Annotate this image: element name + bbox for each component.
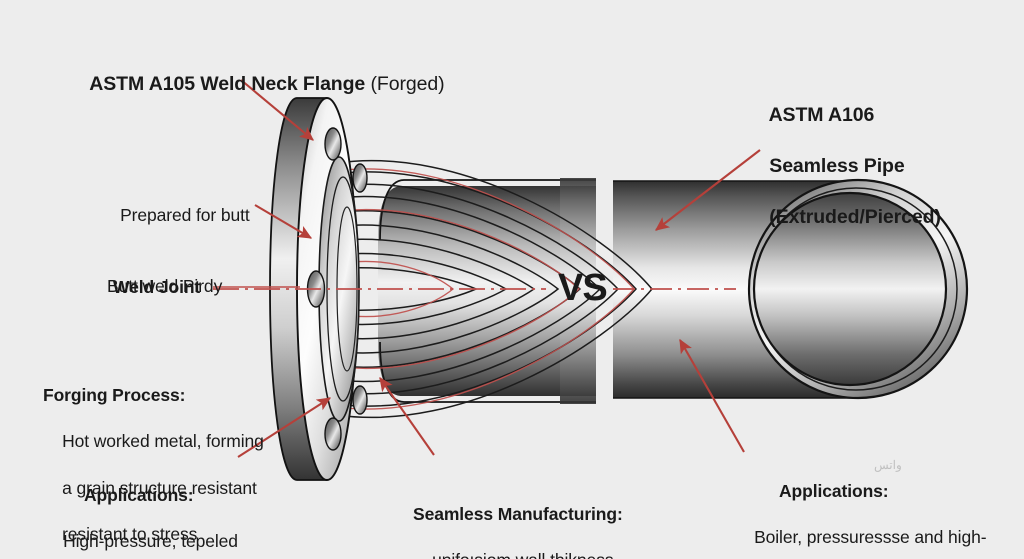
callout-butt-weld: Prepared for butt Butt weld Pirdy xyxy=(101,180,250,345)
bolt-hole xyxy=(353,386,367,414)
block-applications-left: Applications: High-pressure, tepeled tem… xyxy=(44,437,269,559)
vs-label: VS xyxy=(558,266,607,312)
title-right-line1: ASTM A106 xyxy=(769,104,875,126)
watermark: واتس xyxy=(874,458,902,473)
bolt-hole xyxy=(325,128,341,160)
bolt-hole xyxy=(325,418,341,450)
callout-weld-joint: Weld Joint xyxy=(113,277,200,298)
title-left-bold: ASTM A105 Weld Neck Flange xyxy=(89,73,365,95)
block-applications-right-heading: Applications: xyxy=(735,480,986,503)
block-applications-left-line1: High-pressure, tepeled xyxy=(63,531,238,551)
block-seamless-line1: unifoısiom wall thikness, xyxy=(432,550,618,559)
block-seamless-heading: Seamless Manufacturing: xyxy=(413,503,623,526)
title-right: ASTM A106 Seamless Pipe (Extruded/Pierce… xyxy=(748,78,941,255)
block-applications-right: Applications: Boiler, pressuressse and h… xyxy=(735,433,986,559)
title-right-line3: (Extruded/Pierced) xyxy=(769,206,941,228)
title-left: ASTM A105 Weld Neck Flange (Forged) xyxy=(68,50,444,120)
block-seamless-manufacturing: Seamless Manufacturing: unifoısiom wall … xyxy=(413,456,623,559)
diagram-canvas: ASTM A105 Weld Neck Flange (Forged) ASTM… xyxy=(0,0,1024,559)
title-left-regular: (Forged) xyxy=(365,73,444,95)
callout-butt-weld-line1: Prepared for butt xyxy=(120,205,250,225)
block-applications-left-heading: Applications: xyxy=(44,484,269,507)
title-right-line2: Seamless Pipe xyxy=(769,155,904,177)
block-forging-heading: Forging Process: xyxy=(43,384,264,407)
block-applications-right-line1: Boiler, pressuressse and high- xyxy=(754,527,986,547)
bolt-hole xyxy=(353,164,367,192)
